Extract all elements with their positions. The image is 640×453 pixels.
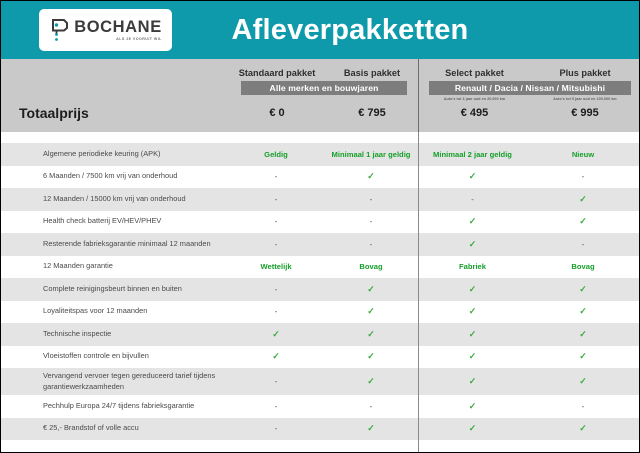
- feature-cell: -: [228, 240, 324, 249]
- check-icon: ✓: [367, 376, 375, 386]
- check-icon: ✓: [579, 351, 587, 361]
- package-name-basis: Basis pakket: [325, 68, 419, 78]
- feature-cell: ✓: [324, 423, 418, 434]
- feature-table: Algemene periodieke keuring (APK)GeldigM…: [1, 143, 639, 440]
- cell-text: Nieuw: [572, 150, 594, 159]
- price-select: € 495: [420, 107, 529, 119]
- cell-text: Minimaal 1 jaar geldig: [332, 150, 411, 159]
- feature-label: Technische inspectie: [1, 329, 228, 340]
- fineprint-select: Auto's tot 3 jaar oud en 20.000 km: [420, 97, 529, 101]
- feature-cell: Bovag: [527, 262, 639, 271]
- feature-cell: -: [527, 240, 639, 249]
- feature-label: Resterende fabrieksgarantie minimaal 12 …: [1, 239, 228, 250]
- group-band-left: Alle merken en bouwjaren: [241, 81, 407, 95]
- dash-icon: -: [275, 424, 278, 433]
- check-icon: ✓: [579, 306, 587, 316]
- dash-icon: -: [275, 402, 278, 411]
- feature-cell: ✓: [418, 351, 527, 362]
- feature-label: Complete reinigingsbeurt binnen en buite…: [1, 284, 228, 295]
- cell-text: Wettelijk: [260, 262, 291, 271]
- feature-cell: -: [228, 402, 324, 411]
- feature-cell: -: [228, 217, 324, 226]
- cell-text: Bovag: [359, 262, 382, 271]
- feature-cell: -: [527, 172, 639, 181]
- feature-cell: ✓: [418, 401, 527, 412]
- afleverpakketten-page: BOCHANE ALS JE VOORUIT WIL Afleverpakket…: [0, 0, 640, 453]
- dash-icon: -: [275, 285, 278, 294]
- price-plus: € 995: [529, 107, 640, 119]
- dash-icon: -: [275, 240, 278, 249]
- feature-cell: ✓: [228, 329, 324, 340]
- check-icon: ✓: [469, 171, 477, 181]
- feature-cell: ✓: [527, 376, 639, 387]
- package-name-standaard: Standaard pakket: [229, 68, 325, 78]
- feature-cell: ✓: [324, 171, 418, 182]
- top-banner: BOCHANE ALS JE VOORUIT WIL Afleverpakket…: [1, 1, 639, 59]
- check-icon: ✓: [469, 351, 477, 361]
- price-standaard: € 0: [229, 107, 325, 119]
- feature-cell: Geldig: [228, 150, 324, 159]
- table-row: Loyaliteitspas voor 12 maanden-✓✓✓: [1, 301, 639, 324]
- table-row: 6 Maanden / 7500 km vrij van onderhoud-✓…: [1, 166, 639, 189]
- check-icon: ✓: [469, 401, 477, 411]
- feature-cell: ✓: [324, 376, 418, 387]
- feature-cell: -: [228, 307, 324, 316]
- feature-cell: ✓: [418, 171, 527, 182]
- check-icon: ✓: [272, 351, 280, 361]
- feature-cell: ✓: [527, 351, 639, 362]
- feature-cell: ✓: [418, 329, 527, 340]
- price-basis: € 795: [325, 107, 419, 119]
- dash-icon: -: [471, 195, 474, 204]
- feature-cell: Fabriek: [418, 262, 527, 271]
- feature-label: Pechhulp Europa 24/7 tijdens fabrieksgar…: [1, 401, 228, 412]
- cell-text: Fabriek: [459, 262, 486, 271]
- feature-cell: ✓: [527, 216, 639, 227]
- feature-cell: Minimaal 1 jaar geldig: [324, 150, 418, 159]
- dash-icon: -: [370, 402, 373, 411]
- group-divider-foot: [418, 440, 419, 453]
- feature-label: Health check batterij EV/HEV/PHEV: [1, 216, 228, 227]
- table-row: € 25,- Brandstof of volle accu-✓✓✓: [1, 418, 639, 441]
- table-row: Vervangend vervoer tegen gereduceerd tar…: [1, 368, 639, 395]
- dash-icon: -: [275, 217, 278, 226]
- check-icon: ✓: [367, 329, 375, 339]
- feature-cell: ✓: [527, 329, 639, 340]
- group-divider-table: [418, 143, 419, 440]
- feature-cell: -: [324, 217, 418, 226]
- page-title: Afleverpakketten: [1, 14, 639, 47]
- dash-icon: -: [275, 377, 278, 386]
- dash-icon: -: [275, 307, 278, 316]
- table-row: Vloeistoffen controle en bijvullen✓✓✓✓: [1, 346, 639, 369]
- check-icon: ✓: [367, 284, 375, 294]
- feature-cell: ✓: [324, 329, 418, 340]
- feature-cell: -: [324, 195, 418, 204]
- feature-cell: Bovag: [324, 262, 418, 271]
- cell-text: Geldig: [264, 150, 288, 159]
- feature-label: 12 Maanden / 15000 km vrij van onderhoud: [1, 194, 228, 205]
- feature-label: Vervangend vervoer tegen gereduceerd tar…: [1, 371, 228, 392]
- feature-cell: -: [418, 195, 527, 204]
- check-icon: ✓: [579, 329, 587, 339]
- table-row: Technische inspectie✓✓✓✓: [1, 323, 639, 346]
- check-icon: ✓: [469, 216, 477, 226]
- dash-icon: -: [370, 217, 373, 226]
- check-icon: ✓: [367, 171, 375, 181]
- table-row: 12 Maanden garantieWettelijkBovagFabriek…: [1, 256, 639, 279]
- feature-cell: -: [324, 402, 418, 411]
- table-row: Resterende fabrieksgarantie minimaal 12 …: [1, 233, 639, 256]
- feature-cell: Nieuw: [527, 150, 639, 159]
- feature-label: Vloeistoffen controle en bijvullen: [1, 351, 228, 362]
- feature-label: Algemene periodieke keuring (APK): [1, 149, 228, 160]
- totaalprijs-label: Totaalprijs: [19, 105, 89, 121]
- group-band-right: Renault / Dacia / Nissan / Mitsubishi: [429, 81, 631, 95]
- package-header-block: Standaard pakket Basis pakket Select pak…: [1, 59, 639, 132]
- fineprint-plus: Auto's tot 5 jaar oud en 100.000 km: [529, 97, 640, 101]
- feature-cell: ✓: [324, 306, 418, 317]
- package-name-select: Select pakket: [420, 68, 529, 78]
- dash-icon: -: [370, 240, 373, 249]
- feature-cell: ✓: [418, 284, 527, 295]
- check-icon: ✓: [272, 329, 280, 339]
- dash-icon: -: [582, 172, 585, 181]
- table-row: Pechhulp Europa 24/7 tijdens fabrieksgar…: [1, 395, 639, 418]
- check-icon: ✓: [469, 284, 477, 294]
- check-icon: ✓: [469, 239, 477, 249]
- table-row: Algemene periodieke keuring (APK)GeldigM…: [1, 143, 639, 166]
- feature-label: 12 Maanden garantie: [1, 261, 228, 272]
- table-row: 12 Maanden / 15000 km vrij van onderhoud…: [1, 188, 639, 211]
- feature-cell: ✓: [527, 306, 639, 317]
- table-row: Health check batterij EV/HEV/PHEV--✓✓: [1, 211, 639, 234]
- check-icon: ✓: [367, 423, 375, 433]
- check-icon: ✓: [579, 423, 587, 433]
- feature-cell: Minimaal 2 jaar geldig: [418, 150, 527, 159]
- feature-cell: ✓: [418, 306, 527, 317]
- check-icon: ✓: [469, 423, 477, 433]
- feature-cell: -: [228, 285, 324, 294]
- dash-icon: -: [275, 172, 278, 181]
- dash-icon: -: [582, 402, 585, 411]
- feature-cell: ✓: [527, 284, 639, 295]
- dash-icon: -: [275, 195, 278, 204]
- feature-cell: ✓: [418, 216, 527, 227]
- check-icon: ✓: [367, 306, 375, 316]
- group-divider-gap: [418, 132, 419, 143]
- cell-text: Bovag: [571, 262, 594, 271]
- feature-cell: ✓: [324, 284, 418, 295]
- check-icon: ✓: [469, 306, 477, 316]
- feature-cell: -: [228, 195, 324, 204]
- check-icon: ✓: [469, 329, 477, 339]
- feature-cell: -: [228, 424, 324, 433]
- feature-cell: ✓: [228, 351, 324, 362]
- feature-cell: ✓: [418, 239, 527, 250]
- feature-cell: ✓: [418, 376, 527, 387]
- check-icon: ✓: [367, 351, 375, 361]
- check-icon: ✓: [579, 284, 587, 294]
- feature-cell: Wettelijk: [228, 262, 324, 271]
- package-name-plus: Plus pakket: [529, 68, 640, 78]
- dash-icon: -: [370, 195, 373, 204]
- check-icon: ✓: [469, 376, 477, 386]
- feature-cell: ✓: [527, 194, 639, 205]
- table-footer-strip: [1, 440, 639, 453]
- check-icon: ✓: [579, 194, 587, 204]
- feature-label: 6 Maanden / 7500 km vrij van onderhoud: [1, 171, 228, 182]
- feature-cell: ✓: [527, 423, 639, 434]
- feature-label: Loyaliteitspas voor 12 maanden: [1, 306, 228, 317]
- feature-cell: -: [527, 402, 639, 411]
- check-icon: ✓: [579, 376, 587, 386]
- feature-cell: -: [228, 172, 324, 181]
- header-gap-strip: [1, 132, 639, 143]
- feature-cell: ✓: [324, 351, 418, 362]
- feature-label: € 25,- Brandstof of volle accu: [1, 423, 228, 434]
- check-icon: ✓: [579, 216, 587, 226]
- feature-cell: -: [228, 377, 324, 386]
- table-row: Complete reinigingsbeurt binnen en buite…: [1, 278, 639, 301]
- dash-icon: -: [582, 240, 585, 249]
- cell-text: Minimaal 2 jaar geldig: [433, 150, 512, 159]
- feature-cell: -: [324, 240, 418, 249]
- feature-cell: ✓: [418, 423, 527, 434]
